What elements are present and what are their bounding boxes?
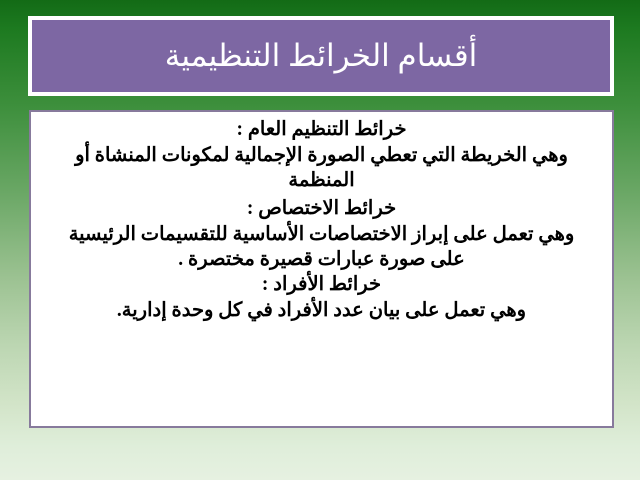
section-specialization-charts: خرائط الاختصاص : وهي تعمل على إبراز الاخ…: [45, 197, 598, 273]
slide-content-box: خرائط التنظيم العام : وهي الخريطة التي ت…: [29, 110, 614, 428]
section-heading-3: خرائط الأفراد :: [45, 273, 598, 298]
section-heading-2: خرائط الاختصاص :: [45, 197, 598, 222]
page-title: أقسام الخرائط التنظيمية: [165, 39, 478, 73]
section-personnel-charts: خرائط الأفراد : وهي تعمل على بيان عدد ال…: [45, 273, 598, 323]
section-body-2: وهي تعمل على إبراز الاختصاصات الأساسية ل…: [45, 222, 598, 273]
section-body-1: وهي الخريطة التي تعطي الصورة الإجمالية ل…: [45, 143, 598, 194]
slide-title-bar: أقسام الخرائط التنظيمية: [32, 20, 610, 92]
section-heading-1: خرائط التنظيم العام :: [45, 118, 598, 143]
slide-title-frame: أقسام الخرائط التنظيمية: [28, 16, 614, 96]
section-body-3: وهي تعمل على بيان عدد الأفراد في كل وحدة…: [45, 298, 598, 323]
slide-canvas: أقسام الخرائط التنظيمية خرائط التنظيم ال…: [0, 0, 640, 480]
section-general-organization-charts: خرائط التنظيم العام : وهي الخريطة التي ت…: [45, 118, 598, 194]
